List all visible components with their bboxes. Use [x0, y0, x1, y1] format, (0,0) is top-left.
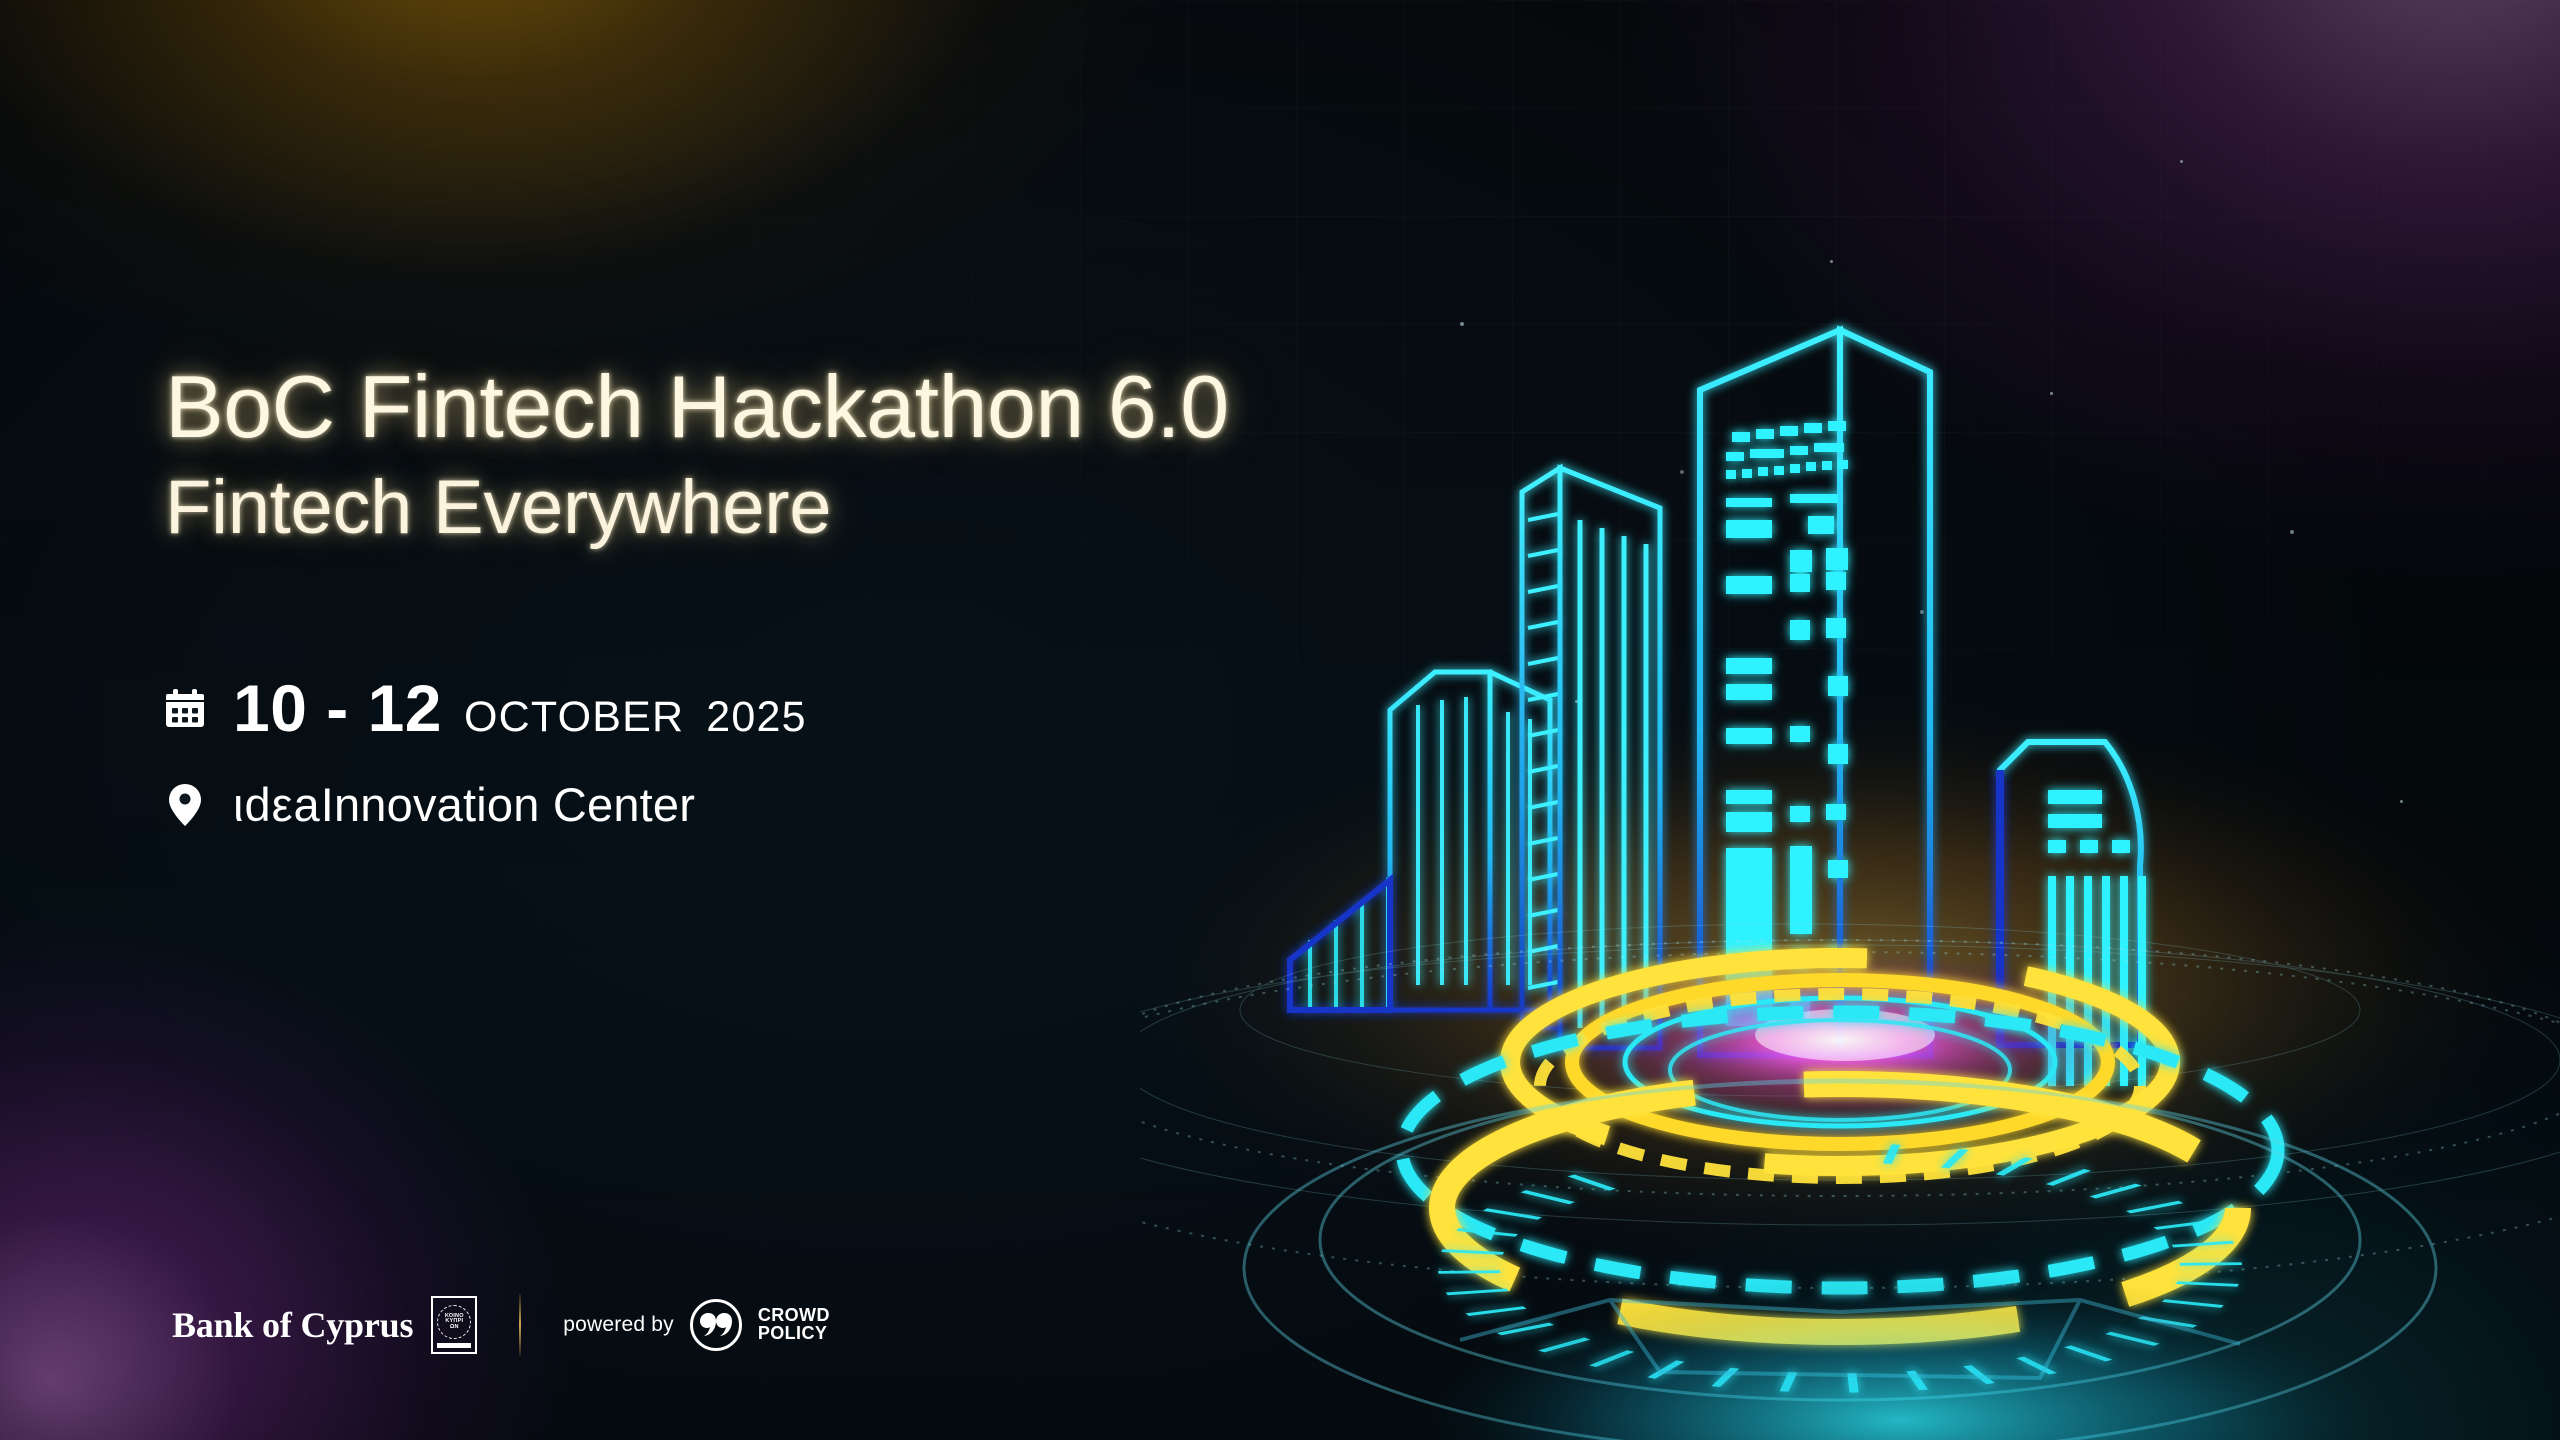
event-date-range: 10 - 12: [233, 675, 442, 741]
event-year: 2025: [706, 696, 806, 739]
hackathon-banner: BoC Fintech Hackathon 6.0 Fintech Everyw…: [0, 0, 2560, 1440]
powered-by-block: powered by CROWD POLICY: [563, 1299, 830, 1351]
event-info-panel: BoC Fintech Hackathon 6.0 Fintech Everyw…: [165, 360, 1345, 828]
crest-line-3: ΩΝ: [450, 1325, 459, 1330]
powered-by-label: powered by: [563, 1313, 674, 1337]
venue-brand: ιdεa: [233, 778, 321, 831]
partner-name-line-2: POLICY: [758, 1325, 830, 1343]
bank-of-cyprus-logo: Bank of Cyprus ΚΟΙΝΟ ΚΥΠΡΙ ΩΝ: [172, 1296, 477, 1354]
bank-name: Bank of Cyprus: [172, 1304, 413, 1346]
bottom-cyan-glow: [1380, 1270, 2420, 1440]
date-row: 10 - 12 OCTOBER 2025: [165, 675, 1345, 741]
venue-name: Innovation Center: [321, 778, 695, 831]
page-title: BoC Fintech Hackathon 6.0: [165, 360, 1345, 453]
footer-divider: [519, 1294, 521, 1356]
event-details: 10 - 12 OCTOBER 2025 ιdεaInnovation Cent…: [165, 675, 1345, 828]
venue-row: ιdεaInnovation Center: [165, 781, 1345, 828]
bank-crest-icon: ΚΟΙΝΟ ΚΥΠΡΙ ΩΝ: [431, 1296, 477, 1354]
crest-base-bar: [437, 1343, 471, 1348]
event-month: OCTOBER: [464, 696, 684, 739]
location-pin-icon: [165, 783, 205, 827]
footer-logos: Bank of Cyprus ΚΟΙΝΟ ΚΥΠΡΙ ΩΝ powered by: [172, 1294, 830, 1356]
crowd-policy-mark-icon: [690, 1299, 742, 1351]
crowd-policy-name: CROWD POLICY: [758, 1307, 830, 1342]
page-subtitle: Fintech Everywhere: [165, 467, 1345, 549]
calendar-icon: [165, 688, 205, 728]
futuristic-city-illustration: [1140, 0, 2560, 1440]
crest-wreath: ΚΟΙΝΟ ΚΥΠΡΙ ΩΝ: [437, 1305, 471, 1339]
